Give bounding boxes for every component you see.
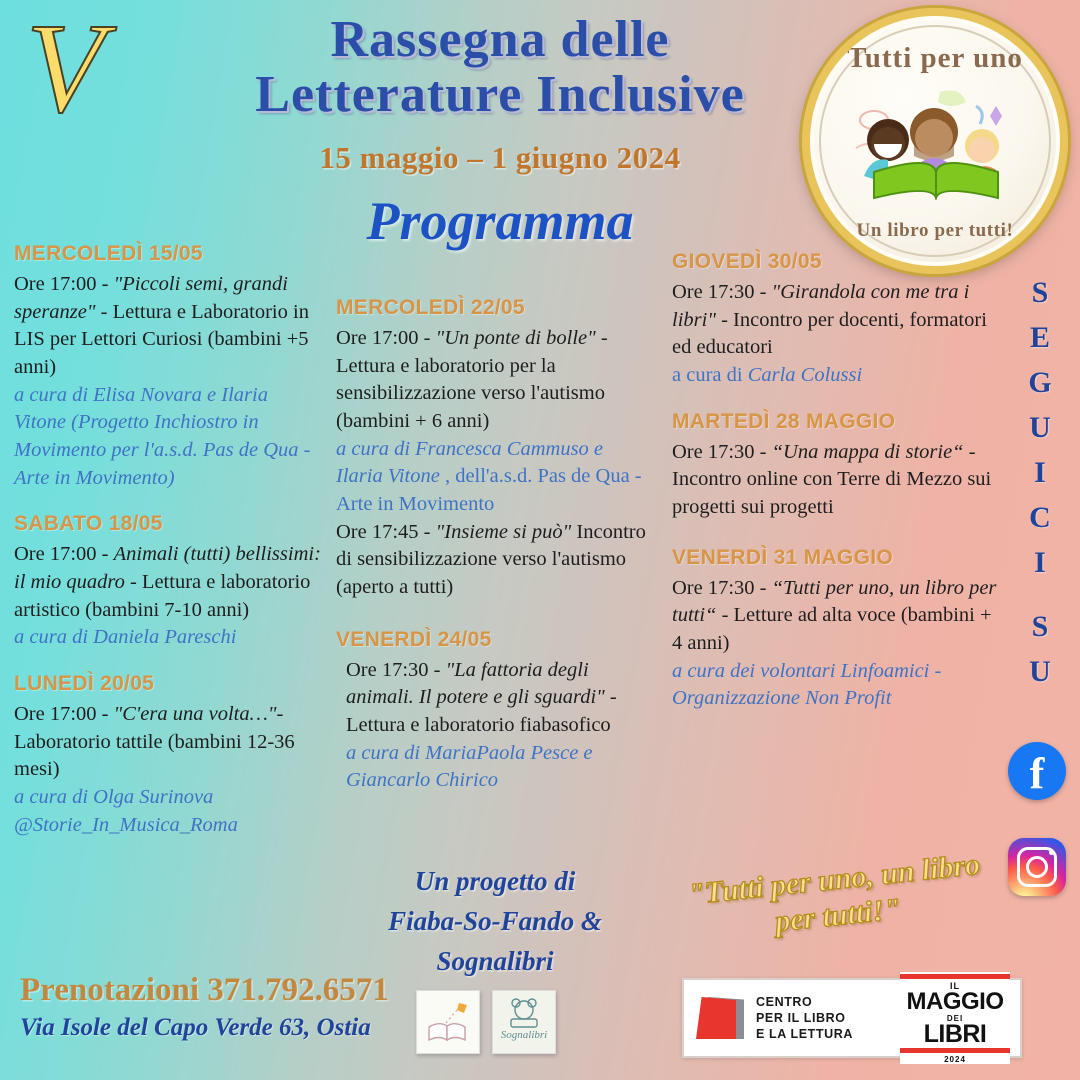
mdl-maggio: MAGGIO — [900, 991, 1010, 1014]
event-day-heading: MERCOLEDÌ 15/05 — [14, 242, 324, 266]
instagram-dot — [1049, 850, 1054, 855]
facebook-icon[interactable]: f — [1008, 742, 1066, 800]
book-red — [696, 997, 736, 1039]
slogan-text: "Tutti per uno, un libro per tutti!" — [673, 845, 999, 950]
event-time: Ore 17:00 - — [14, 703, 114, 725]
fiaba-so-fando-logo — [416, 990, 480, 1054]
event-credit: a cura di Francesca Cammuso e Ilaria Vit… — [336, 436, 648, 519]
event-item: MERCOLEDÌ 15/05 Ore 17:00 - "Piccoli sem… — [14, 242, 324, 492]
event-time: Ore 17:30 - — [672, 577, 772, 599]
programme-column-1: MERCOLEDÌ 15/05 Ore 17:00 - "Piccoli sem… — [14, 242, 324, 859]
credit-names: Carla Colussi — [748, 364, 863, 386]
instagram-icon[interactable] — [1008, 838, 1066, 896]
open-book-icon — [423, 997, 473, 1047]
follow-letter: E — [1018, 323, 1062, 353]
event-time: Ore 17:00 - — [336, 327, 436, 349]
sognalibri-bear-icon: Sognalibri — [497, 996, 551, 1048]
mdl-rule-top — [900, 974, 1010, 979]
sognalibri-logo: Sognalibri — [492, 990, 556, 1054]
event-title: "C'era una volta…" — [114, 703, 277, 725]
event-desc: - Incontro per docenti, formatori ed edu… — [672, 309, 987, 359]
event-item: MERCOLEDÌ 22/05 Ore 17:00 - "Un ponte di… — [336, 296, 648, 602]
event-body: Ore 17:00 - "Un ponte di bolle" - Lettur… — [336, 325, 648, 436]
event-credit: a cura di Daniela Pareschi — [14, 624, 324, 652]
venue-address: Via Isole del Capo Verde 63, Ostia — [20, 1014, 371, 1042]
event-body: Ore 17:00 - "Piccoli semi, grandi speran… — [14, 271, 324, 382]
event-credit: a cura dei volontari Linfoamici - Organi… — [672, 658, 998, 713]
project-credit: Un progetto di Fiaba-So-Fando & Sognalib… — [350, 862, 640, 982]
mdl-rule-bottom — [900, 1048, 1010, 1053]
tutti-per-uno-logo: Tutti per uno Un libro per tutti! — [802, 8, 1068, 274]
event-day-heading: VENERDÌ 31 MAGGIO — [672, 546, 998, 570]
event-body-secondary: Ore 17:45 - "Insieme si può" Incontro di… — [336, 519, 648, 602]
cpl-line-1: CENTRO — [756, 994, 853, 1010]
edition-numeral: V — [26, 4, 102, 132]
event-day-heading: MARTEDÌ 28 MAGGIO — [672, 410, 998, 434]
event-item: VENERDÌ 31 MAGGIO Ore 17:30 - “Tutti per… — [672, 546, 998, 713]
event-time-2: Ore 17:45 - — [336, 521, 436, 543]
follow-letter: S — [1018, 278, 1062, 308]
credit-prefix: a cura di — [672, 364, 748, 386]
event-title-2: "Insieme si può" — [436, 521, 572, 543]
date-range: 15 maggio – 1 giugno 2024 — [180, 140, 820, 176]
event-time: Ore 17:30 - — [672, 281, 772, 303]
event-credit: a cura di Carla Colussi — [672, 362, 998, 390]
project-line-3: Sognalibri — [350, 942, 640, 982]
instagram-lens — [1026, 856, 1048, 878]
event-body: Ore 17:30 - "Girandola con me tra i libr… — [672, 279, 998, 362]
event-body: Ore 17:30 - “Tutti per uno, un libro per… — [672, 575, 998, 658]
follow-us-label: S E G U I C I S U — [1018, 278, 1062, 702]
mdl-year: 2024 — [900, 1055, 1010, 1064]
follow-letter: S — [1018, 612, 1062, 642]
cpl-line-3: E LA LETTURA — [756, 1026, 853, 1042]
event-time: Ore 17:00 - — [14, 543, 114, 565]
title-line-2: Letterature Inclusive — [180, 67, 820, 122]
follow-letter: I — [1018, 458, 1062, 488]
event-item: VENERDÌ 24/05 Ore 17:30 - "La fattoria d… — [336, 628, 648, 795]
cpl-wordmark: CENTRO PER IL LIBRO E LA LETTURA — [756, 994, 853, 1042]
follow-letter: G — [1018, 368, 1062, 398]
event-day-heading: MERCOLEDÌ 22/05 — [336, 296, 648, 320]
event-day-heading: LUNEDÌ 20/05 — [14, 672, 324, 696]
event-day-heading: VENERDÌ 24/05 — [336, 628, 648, 652]
programme-column-3: GIOVEDÌ 30/05 Ore 17:30 - "Girandola con… — [672, 250, 998, 733]
badge-top-text: Tutti per uno — [810, 42, 1060, 75]
event-body: Ore 17:30 - “Una mappa di storie“ - Inco… — [672, 439, 998, 522]
event-day-heading: GIOVEDÌ 30/05 — [672, 250, 998, 274]
centro-libro-lettura-logo: CENTRO PER IL LIBRO E LA LETTURA IL MAGG… — [682, 978, 1022, 1058]
booking-info: Prenotazioni 371.792.6571 — [20, 972, 389, 1009]
event-time: Ore 17:30 - — [672, 441, 772, 463]
follow-letter: U — [1018, 413, 1062, 443]
facebook-glyph: f — [1030, 752, 1045, 796]
project-line-1: Un progetto di — [350, 862, 640, 902]
badge-bottom-text: Un libro per tutti! — [810, 220, 1060, 242]
event-body: Ore 17:30 - "La fattoria degli animali. … — [336, 657, 648, 740]
event-desc: - Letture ad alta voce (bambini + 4 anni… — [672, 604, 992, 654]
follow-letter: I — [1018, 548, 1062, 578]
book-mark-icon — [694, 995, 746, 1041]
page-title: Rassegna delle Letterature Inclusive — [180, 12, 820, 122]
poster-canvas: V Rassegna delle Letterature Inclusive 1… — [0, 0, 1080, 1080]
project-line-2: Fiaba-So-Fando & — [350, 902, 640, 942]
cpl-line-2: PER IL LIBRO — [756, 1010, 853, 1026]
event-item: SABATO 18/05 Ore 17:00 - Animali (tutti)… — [14, 512, 324, 652]
event-credit: a cura di Olga Surinova @Storie_In_Music… — [14, 784, 324, 839]
event-body: Ore 17:00 - Animali (tutti) bellissimi: … — [14, 541, 324, 624]
follow-letter: U — [1018, 657, 1062, 687]
children-reading-illustration — [844, 84, 1026, 200]
event-item: LUNEDÌ 20/05 Ore 17:00 - "C'era una volt… — [14, 672, 324, 839]
event-title: “Una mappa di storie“ — [772, 441, 964, 463]
sognalibri-wordmark: Sognalibri — [501, 1029, 547, 1041]
follow-letter: C — [1018, 503, 1062, 533]
event-credit: a cura di MariaPaola Pesce e Giancarlo C… — [336, 740, 648, 795]
event-time: Ore 17:30 - — [346, 659, 446, 681]
event-day-heading: SABATO 18/05 — [14, 512, 324, 536]
event-credit: a cura di Elisa Novara e Ilaria Vitone (… — [14, 382, 324, 493]
event-body: Ore 17:00 - "C'era una volta…"- Laborato… — [14, 701, 324, 784]
event-item: GIOVEDÌ 30/05 Ore 17:30 - "Girandola con… — [672, 250, 998, 390]
event-title: "Un ponte di bolle" — [436, 327, 596, 349]
maggio-dei-libri-logo: IL MAGGIO DEI LIBRI 2024 — [900, 972, 1010, 1065]
title-line-1: Rassegna delle — [180, 12, 820, 67]
event-item: MARTEDÌ 28 MAGGIO Ore 17:30 - “Una mappa… — [672, 410, 998, 522]
programme-column-2: MERCOLEDÌ 22/05 Ore 17:00 - "Un ponte di… — [336, 296, 648, 815]
event-time: Ore 17:00 - — [14, 273, 114, 295]
mdl-libri: LIBRI — [900, 1023, 1010, 1047]
